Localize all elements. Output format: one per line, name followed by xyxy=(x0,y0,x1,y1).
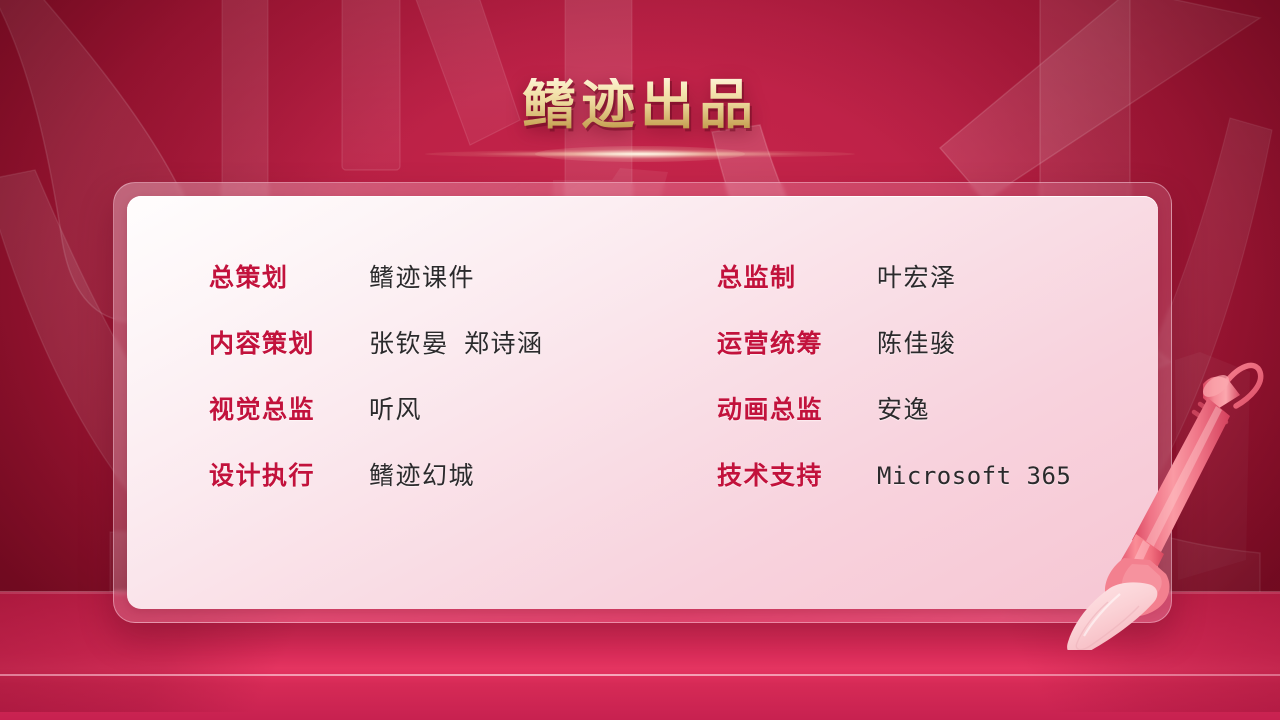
credits-card-frame: 总策划 鳍迹课件 内容策划 张钦晏 郑诗涵 视觉总监 听风 设计执行 鳍迹幻城 xyxy=(113,182,1172,623)
credit-row: 内容策划 张钦晏 郑诗涵 xyxy=(209,324,649,390)
credit-value: 安逸 xyxy=(877,390,930,426)
credit-label: 动画总监 xyxy=(717,390,877,426)
credit-label: 总监制 xyxy=(717,258,877,294)
credit-label: 运营统筹 xyxy=(717,324,877,360)
credits-card-panel: 总策划 鳍迹课件 内容策划 张钦晏 郑诗涵 视觉总监 听风 设计执行 鳍迹幻城 xyxy=(127,196,1158,609)
credit-label: 内容策划 xyxy=(209,324,369,360)
credit-label: 技术支持 xyxy=(717,456,877,492)
credit-label: 总策划 xyxy=(209,258,369,294)
page-title: 鳍迹出品 xyxy=(522,78,758,132)
credit-label: 视觉总监 xyxy=(209,390,369,426)
title-container: 鳍迹出品 xyxy=(0,78,1280,132)
credit-row: 总监制 叶宏泽 xyxy=(717,258,1157,324)
credit-value: 鳍迹课件 xyxy=(369,258,475,294)
credit-row: 总策划 鳍迹课件 xyxy=(209,258,649,324)
credit-value: 陈佳骏 xyxy=(877,324,957,360)
title-glow-core xyxy=(535,146,745,162)
credit-row: 设计执行 鳍迹幻城 xyxy=(209,456,649,522)
credits-column-left: 总策划 鳍迹课件 内容策划 张钦晏 郑诗涵 视觉总监 听风 设计执行 鳍迹幻城 xyxy=(209,258,649,522)
stage-floor-highlight xyxy=(0,674,1280,676)
credit-row: 视觉总监 听风 xyxy=(209,390,649,456)
credit-value: 鳍迹幻城 xyxy=(369,456,475,492)
slide-canvas: 鳍迹出品 总策划 鳍迹课件 内容策划 张钦晏 郑诗涵 视觉总监 听风 xyxy=(0,0,1280,720)
credit-label: 设计执行 xyxy=(209,456,369,492)
credit-value: 张钦晏 郑诗涵 xyxy=(369,324,544,360)
calligraphy-brush-icon xyxy=(1040,350,1280,650)
credit-value: 听风 xyxy=(369,390,422,426)
credit-value: 叶宏泽 xyxy=(877,258,957,294)
